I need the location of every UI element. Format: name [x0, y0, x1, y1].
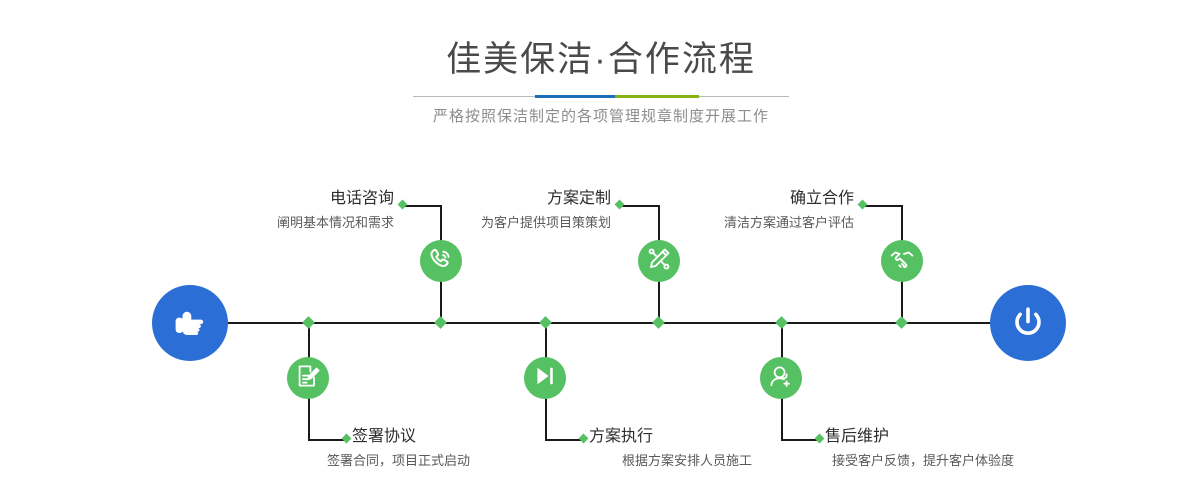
axis-marker-step-5: [895, 316, 908, 329]
title-divider: [413, 95, 789, 98]
node-icon-step-4[interactable]: [524, 357, 566, 399]
axis-marker-step-3: [652, 316, 665, 329]
label-marker-step-1: [398, 200, 408, 210]
play-execute-icon: [532, 363, 558, 394]
step-4-desc: 根据方案安排人员施工: [622, 452, 752, 470]
customer-service-add-icon: [768, 363, 794, 394]
connector-horizontal-step-2: [308, 439, 346, 441]
node-icon-step-6[interactable]: [760, 357, 802, 399]
step-2-desc: 签署合同，项目正式启动: [327, 452, 470, 470]
step-6-desc: 接受客户反馈，提升客户体验度: [832, 452, 1014, 470]
node-icon-step-3[interactable]: [638, 240, 680, 282]
document-edit-icon: [295, 363, 321, 394]
node-icon-step-2[interactable]: [287, 357, 329, 399]
connector-horizontal-step-3: [621, 205, 659, 207]
page-subtitle: 严格按照保洁制定的各项管理规章制度开展工作: [0, 106, 1202, 128]
label-marker-step-3: [615, 200, 625, 210]
step-2-title: 签署协议: [352, 427, 416, 447]
connector-horizontal-step-4: [545, 439, 583, 441]
timeline-end-node: [990, 285, 1066, 361]
axis-marker-step-6: [775, 316, 788, 329]
step-3-desc: 为客户提供项目策策划: [371, 214, 611, 232]
axis-marker-step-4: [539, 316, 552, 329]
axis-marker-step-1: [434, 316, 447, 329]
axis-marker-step-2: [302, 316, 315, 329]
step-5-desc: 清洁方案通过客户评估: [614, 214, 854, 232]
power-icon: [1006, 299, 1050, 348]
step-5-title: 确立合作: [659, 189, 854, 209]
pointing-hand-icon: [168, 299, 212, 348]
divider-segment-left-gray: [413, 96, 535, 97]
label-marker-step-6: [815, 434, 825, 444]
connector-horizontal-step-6: [781, 439, 819, 441]
step-6-title: 售后维护: [825, 427, 889, 447]
label-marker-step-2: [342, 434, 352, 444]
connector-horizontal-step-5: [864, 205, 902, 207]
connector-horizontal-step-1: [404, 205, 441, 207]
node-icon-step-5[interactable]: [881, 240, 923, 282]
divider-segment-right-gray: [699, 96, 789, 97]
page-title: 佳美保洁·合作流程: [0, 38, 1202, 82]
divider-segment-green: [615, 95, 699, 98]
phone-call-icon: [428, 246, 454, 277]
step-4-title: 方案执行: [589, 427, 653, 447]
label-marker-step-4: [579, 434, 589, 444]
step-3-title: 方案定制: [416, 189, 611, 209]
pencil-compass-icon: [646, 246, 672, 277]
label-marker-step-5: [858, 200, 868, 210]
handshake-icon: [889, 246, 915, 277]
divider-segment-blue: [535, 95, 615, 98]
timeline-start-node: [152, 285, 228, 361]
step-1-desc: 阐明基本情况和需求: [154, 214, 394, 232]
infographic-canvas: 佳美保洁·合作流程 严格按照保洁制定的各项管理规章制度开展工作: [0, 0, 1202, 502]
node-icon-step-1[interactable]: [420, 240, 462, 282]
step-1-title: 电话咨询: [199, 189, 394, 209]
